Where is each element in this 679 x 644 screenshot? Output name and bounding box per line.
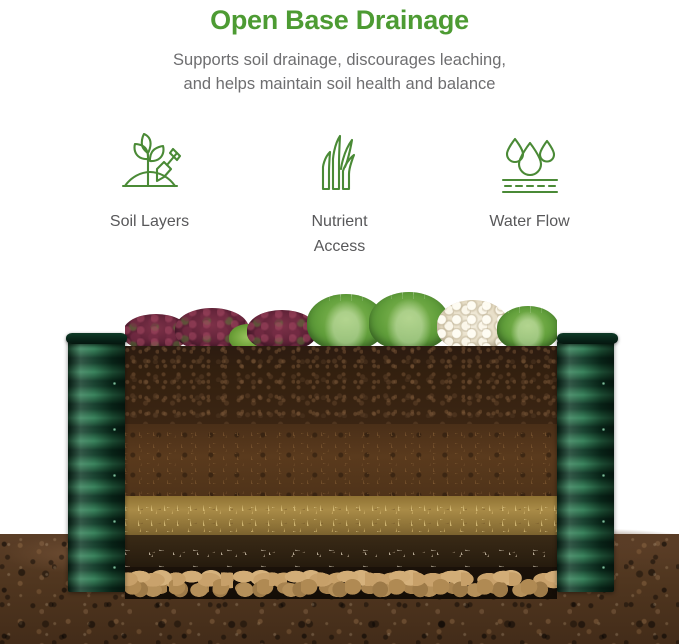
feature-nutrient-access-label: Nutrient Access: [245, 209, 435, 259]
bed-corner-post-right: [557, 340, 614, 592]
bed-top-rail-left: [66, 333, 127, 344]
soil-cross-section: [125, 346, 557, 599]
post-screw: [602, 566, 605, 569]
post-screw: [113, 428, 116, 431]
post-screw: [602, 382, 605, 385]
post-screw: [602, 520, 605, 523]
feature-nutrient-access: Nutrient Access: [245, 131, 435, 259]
soil-layer-topsoil: [125, 346, 557, 424]
feature-nutrient-access-label-line-1: Nutrient: [245, 209, 435, 234]
page-subtitle: Supports soil drainage, discourages leac…: [0, 37, 679, 96]
post-screw: [113, 382, 116, 385]
product-feature-graphic: Open Base Drainage Supports soil drainag…: [0, 0, 679, 644]
post-screw: [113, 474, 116, 477]
garden-bed-scene: [0, 284, 679, 644]
feature-row: Soil Layers Nutrient Access: [0, 131, 679, 259]
bed-top-rail-right: [557, 333, 618, 344]
post-screw: [602, 428, 605, 431]
subtitle-line-1: Supports soil drainage, discourages leac…: [0, 48, 679, 72]
feature-soil-layers: Soil Layers: [55, 131, 245, 234]
feature-water-flow-label: Water Flow: [435, 209, 625, 234]
feature-soil-layers-label: Soil Layers: [55, 209, 245, 234]
post-screw: [113, 566, 116, 569]
bed-corner-post-left: [68, 340, 125, 592]
page-title: Open Base Drainage: [0, 0, 679, 37]
feature-nutrient-access-label-line-2: Access: [245, 234, 435, 259]
post-screw: [113, 520, 116, 523]
soil-layer-logs: [125, 567, 557, 599]
feature-water-flow-label-line-1: Water Flow: [435, 209, 625, 234]
plant-green-cabbage: [497, 306, 557, 350]
plant-row: [125, 288, 557, 350]
feature-water-flow: Water Flow: [435, 131, 625, 234]
soil-layer-compost: [125, 424, 557, 496]
post-screw: [602, 474, 605, 477]
grass-blades-icon: [245, 131, 435, 197]
plant-shovel-icon: [55, 131, 245, 197]
header: Open Base Drainage Supports soil drainag…: [0, 0, 679, 96]
subtitle-line-2: and helps maintain soil health and balan…: [0, 72, 679, 96]
water-droplets-icon: [435, 131, 625, 197]
feature-soil-layers-label-line-1: Soil Layers: [55, 209, 245, 234]
raised-garden-bed: [68, 340, 614, 606]
